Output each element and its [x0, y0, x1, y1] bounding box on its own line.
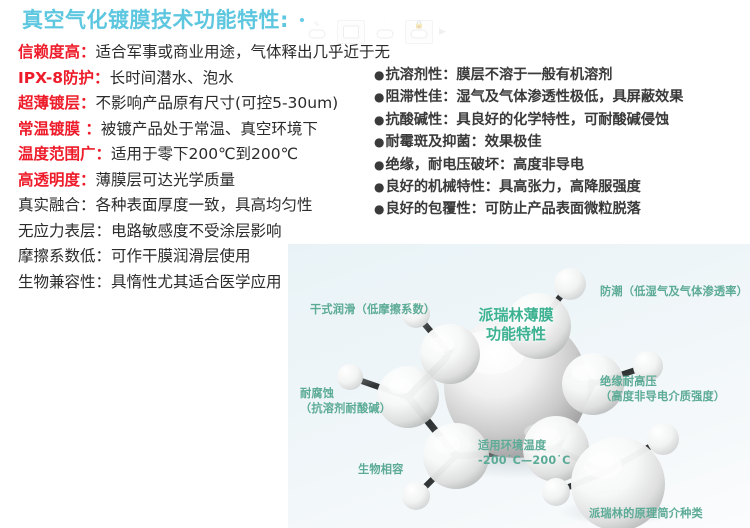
- label-insulation-high-voltage: 绝缘耐高压 （高度非导电介质强度）: [600, 374, 725, 404]
- feature-value: 适用于零下200℃到200℃: [111, 145, 298, 163]
- bullet-row: ●良好的包覆性：可防止产品表面微粒脱落: [374, 198, 750, 220]
- bullet-icon: ●: [374, 90, 384, 104]
- bullet-row: ●抗溶剂性：膜层不溶于一般有机溶剂: [374, 64, 750, 86]
- bullet-icon: ●: [374, 202, 384, 216]
- feature-row: 常温镀膜 ：被镀产品处于常温、真空环境下: [18, 117, 378, 143]
- bullet-text: 阻滞性佳：湿气及气体渗透性极低，具屏蔽效果: [385, 89, 683, 105]
- feature-key: 温度范围广: [18, 145, 96, 163]
- feature-sep: ：: [85, 120, 101, 138]
- faint-watermark: · · · · · · · · · · · ·: [598, 489, 644, 495]
- bullet-text: 抗溶剂性：膜层不溶于一般有机溶剂: [385, 67, 612, 83]
- atom-small: [402, 482, 430, 510]
- feature-value: 薄膜层可达光学质量: [96, 171, 236, 189]
- bullet-icon: ●: [374, 113, 384, 127]
- bullet-text: 绝缘，耐电压破坏：高度非导电: [385, 157, 584, 173]
- label-temp-line2: -200˙C—200˙C: [478, 453, 571, 468]
- center-label-line1: 派瑞林薄膜: [456, 306, 576, 325]
- right-bullet-list: ●抗溶剂性：膜层不溶于一般有机溶剂 ●阻滞性佳：湿气及气体渗透性极低，具屏蔽效果…: [374, 64, 750, 221]
- feature-key: 常温镀膜: [18, 120, 85, 138]
- bullet-row: ●抗酸碱性：具良好的化学特性，可耐酸碱侵蚀: [374, 109, 750, 131]
- center-label-line2: 功能特性: [456, 325, 576, 344]
- feature-value: 具惰性尤其适合医学应用: [111, 273, 282, 291]
- feature-value: 各种表面厚度一致，具高均匀性: [96, 196, 313, 214]
- feature-value: 不影响产品原有尺寸(可控5-30um): [96, 94, 339, 112]
- feature-sep: ：: [96, 222, 112, 240]
- label-insulation-line1: 绝缘耐高压: [600, 374, 725, 389]
- feature-sep: ：: [94, 69, 110, 87]
- feature-sep: ：: [80, 94, 96, 112]
- feature-value: 可作干膜润滑层使用: [111, 247, 251, 265]
- bullet-row: ●阻滞性佳：湿气及气体渗透性极低，具屏蔽效果: [374, 86, 750, 108]
- bullet-row: ●耐霉斑及抑菌：效果极佳: [374, 131, 750, 153]
- bullet-text: 耐霉斑及抑菌：效果极佳: [385, 134, 541, 150]
- bullet-icon: ●: [374, 135, 384, 149]
- atom-small: [542, 478, 570, 506]
- feature-key: 信赖度高: [18, 43, 80, 61]
- molecule-diagram-panel: 派瑞林薄膜 功能特性 干式润滑（低摩擦系数） 防潮（低湿气及气体渗透率） 耐腐蚀…: [288, 244, 750, 528]
- atom-small: [554, 268, 586, 300]
- feature-row: 真实融合：各种表面厚度一致，具高均匀性: [18, 193, 378, 219]
- atom-small: [647, 423, 679, 455]
- feature-sep: ：: [80, 196, 96, 214]
- feature-row: 超薄镀层：不影响产品原有尺寸(可控5-30um): [18, 91, 378, 117]
- chevron-right-icon: ▶: [439, 28, 446, 37]
- label-temp-line1: 适用环境温度: [478, 438, 571, 453]
- page-root: 真空气化镀膜技术功能特性: ✎ ˙ 🔒 ▶ 信赖度高：适合军事或商业用途，气体释…: [0, 0, 750, 528]
- bullet-row: ●绝缘，耐电压破坏：高度非导电: [374, 154, 750, 176]
- bullet-text: 良好的机械特性：具高张力，高降服强度: [385, 179, 640, 195]
- feature-value: 长时间潜水、泡水: [110, 69, 234, 87]
- label-corrosion-line1: 耐腐蚀: [300, 386, 391, 401]
- bullet-icon: ●: [374, 158, 384, 172]
- label-parylene-intro: 派瑞林的原理简介种类: [589, 506, 703, 521]
- feature-row: 高透明度：薄膜层可达光学质量: [18, 168, 378, 194]
- label-moisture-proof: 防潮（低湿气及气体渗透率）: [600, 284, 748, 299]
- bullet-row: ●良好的机械特性：具高张力，高降服强度: [374, 176, 750, 198]
- feature-row: 温度范围广：适用于零下200℃到200℃: [18, 142, 378, 168]
- feature-key: 无应力表层: [18, 222, 96, 240]
- feature-sep: ：: [80, 171, 96, 189]
- label-insulation-line2: （高度非导电介质强度）: [600, 389, 725, 404]
- feature-row: 信赖度高：适合军事或商业用途，气体释出几乎近于无: [18, 40, 378, 66]
- bullet-text: 抗酸碱性：具良好的化学特性，可耐酸碱侵蚀: [385, 112, 669, 128]
- feature-key: 真实融合: [18, 196, 80, 214]
- feature-key: 摩擦系数低: [18, 247, 96, 265]
- feature-sep: ：: [96, 273, 112, 291]
- bullet-text: 良好的包覆性：可防止产品表面微粒脱落: [385, 201, 640, 217]
- feature-sep: ：: [96, 247, 112, 265]
- feature-sep: ：: [96, 145, 112, 163]
- label-dry-lubrication: 干式润滑（低摩擦系数）: [310, 302, 435, 317]
- lock-icon: 🔒: [405, 20, 433, 44]
- feature-key: 超薄镀层: [18, 94, 80, 112]
- feature-row: IPX-8防护：长时间潜水、泡水: [18, 66, 378, 92]
- feature-value: 被镀产品处于常温、真空环境下: [101, 120, 318, 138]
- label-biocompatible: 生物相容: [358, 462, 404, 477]
- label-corrosion-line2: （抗溶剂耐酸碱）: [300, 401, 391, 416]
- bullet-icon: ●: [374, 180, 384, 194]
- center-sphere-label: 派瑞林薄膜 功能特性: [456, 306, 576, 344]
- label-operating-temperature: 适用环境温度 -200˙C—200˙C: [478, 438, 571, 468]
- feature-row: 无应力表层：电路敏感度不受涂层影响: [18, 219, 378, 245]
- feature-value: 电路敏感度不受涂层影响: [111, 222, 282, 240]
- feature-key: 高透明度: [18, 171, 80, 189]
- feature-sep: ：: [80, 43, 96, 61]
- feature-key: 生物兼容性: [18, 273, 96, 291]
- bullet-icon: ●: [374, 68, 384, 82]
- feature-value: 适合军事或商业用途，气体释出几乎近于无: [96, 43, 391, 61]
- page-title: 真空气化镀膜技术功能特性:: [22, 4, 289, 34]
- feature-key: IPX-8防护: [18, 69, 94, 87]
- label-corrosion-resistance: 耐腐蚀 （抗溶剂耐酸碱）: [300, 386, 391, 416]
